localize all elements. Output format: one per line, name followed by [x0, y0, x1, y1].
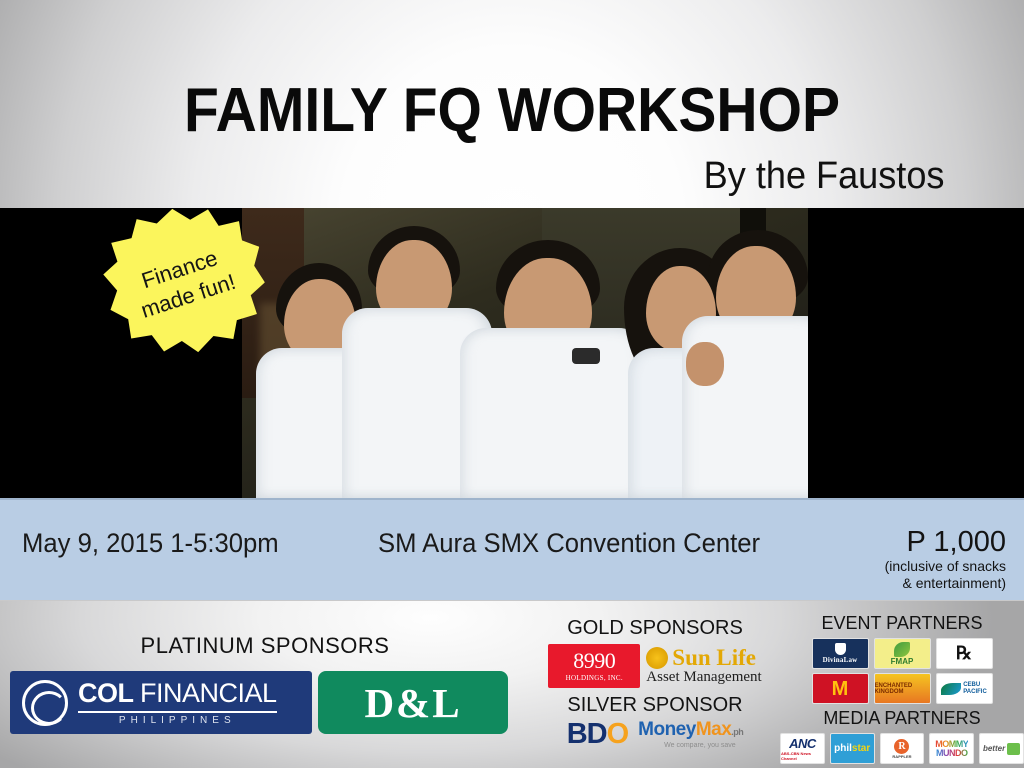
logo-mommy-mundo[interactable]: MOMMY MUNDO [929, 733, 974, 764]
col-circle-icon [22, 680, 68, 726]
event-poster: FAMILY FQ WORKSHOP By the Faustos [0, 0, 1024, 768]
crest-icon [835, 643, 846, 655]
rappler-label: RAPPLER [892, 754, 911, 759]
col-bold-word: COL [78, 678, 133, 708]
logo-better-living[interactable]: better [979, 733, 1024, 764]
mm-ph: .ph [731, 727, 743, 737]
fmap-label: FMAP [891, 657, 914, 666]
moneymax-wordmark: MoneyMax.ph [638, 720, 743, 742]
logo-8990-main: 8990 [573, 650, 615, 672]
philstar-b: star [852, 743, 870, 754]
cebu-pacific-label: CEBU PACIFIC [963, 682, 987, 696]
logo-8990-holdings[interactable]: 8990 HOLDINGS, INC. [548, 644, 640, 688]
price-note-line-2: & entertainment) [766, 575, 1006, 592]
sun-icon [646, 647, 668, 669]
price-note-line-1: (inclusive of snacks [766, 558, 1006, 575]
event-info-bar: May 9, 2015 1-5:30pm SM Aura SMX Convent… [0, 498, 1024, 600]
silver-heading: SILVER SPONSOR [530, 694, 780, 717]
sun-life-name: Sun Life [672, 646, 756, 669]
platinum-sponsors-column: PLATINUM SPONSORS COL FINANCIAL PHILIPPI… [0, 603, 530, 768]
col-name-line: COL FINANCIAL [78, 680, 277, 707]
col-financial-logo[interactable]: COL FINANCIAL PHILIPPINES [10, 671, 312, 734]
logo-calligraphy-partner[interactable]: ℞ [936, 638, 993, 669]
philstar-a: phil [834, 743, 852, 754]
media-partners-heading: MEDIA PARTNERS [780, 708, 1024, 729]
col-divider [78, 711, 277, 713]
logo-rappler[interactable]: R RAPPLER [880, 733, 925, 764]
gold-heading: GOLD SPONSORS [530, 617, 780, 640]
rappler-mark-icon: R [894, 739, 909, 754]
page-title: FAMILY FQ WORKSHOP [41, 80, 983, 142]
logo-sun-life[interactable]: Sun Life Asset Management [646, 646, 761, 686]
better-label: better [983, 744, 1005, 753]
moneymax-tagline: We compare, you save [664, 742, 735, 749]
event-price: P 1,000 (inclusive of snacks & entertain… [766, 526, 1006, 592]
logo-moneymax[interactable]: MoneyMax.ph We compare, you save [638, 720, 743, 749]
col-tagline: PHILIPPINES [78, 716, 277, 726]
logo-fmap[interactable]: FMAP [874, 638, 931, 669]
event-date: May 9, 2015 1-5:30pm [22, 528, 279, 559]
leaf-icon [894, 642, 910, 657]
dl-logo[interactable]: D&L [318, 671, 508, 734]
logo-cebu-pacific[interactable]: CEBU PACIFIC [936, 673, 993, 704]
sun-life-top: Sun Life [646, 646, 756, 669]
logo-anc[interactable]: ANC ABS-CBN News Channel [780, 733, 825, 764]
cebu-line-1: CEBU [963, 682, 987, 689]
event-partners-row-2: M ENCHANTED KINGDOM CEBU PACIFIC [780, 673, 1024, 704]
gold-logo-row: 8990 HOLDINGS, INC. Sun Life Asset Manag… [530, 644, 780, 688]
event-venue: SM Aura SMX Convention Center [378, 528, 760, 559]
bdo-bd: BD [567, 718, 607, 750]
person-son-right [682, 230, 808, 498]
hand [686, 342, 724, 386]
better-mark-icon [1007, 743, 1020, 755]
golden-arches-icon: M [832, 680, 849, 698]
calligraphy-icon: ℞ [956, 643, 972, 664]
title-zone: FAMILY FQ WORKSHOP By the Faustos [0, 0, 1024, 208]
enchanted-kingdom-label: ENCHANTED KINGDOM [875, 683, 930, 695]
col-wordmark: COL FINANCIAL PHILIPPINES [78, 680, 277, 726]
anc-sub: ABS-CBN News Channel [781, 751, 824, 761]
logo-mcdonalds[interactable]: M [812, 673, 869, 704]
price-amount: P 1,000 [766, 526, 1006, 558]
finance-made-fun-badge: Finance made fun! [93, 196, 274, 369]
anc-wordmark: ANC [789, 736, 816, 751]
logo-8990-sub: HOLDINGS, INC. [566, 674, 623, 682]
wristwatch [572, 348, 600, 364]
logo-bdo[interactable]: BDO [567, 720, 628, 749]
divina-law-label: DivinaLaw [823, 656, 858, 664]
media-partners-row: ANC ABS-CBN News Channel philstar R RAPP… [780, 733, 1024, 764]
silver-logo-row: BDO MoneyMax.ph We compare, you save [530, 720, 780, 749]
sun-life-sub: Asset Management [646, 669, 761, 686]
platinum-heading: PLATINUM SPONSORS [0, 633, 530, 659]
platinum-logo-row: COL FINANCIAL PHILIPPINES D&L [10, 671, 508, 734]
logo-philstar[interactable]: philstar [830, 733, 875, 764]
bdo-o: O [607, 718, 629, 750]
family-photo [242, 208, 808, 498]
mm-money: Money [638, 719, 696, 740]
logo-enchanted-kingdom[interactable]: ENCHANTED KINGDOM [874, 673, 931, 704]
gold-silver-sponsors-column: GOLD SPONSORS 8990 HOLDINGS, INC. Sun Li… [530, 603, 780, 768]
event-partners-heading: EVENT PARTNERS [780, 613, 1024, 634]
logo-divina-law[interactable]: DivinaLaw [812, 638, 869, 669]
mommy-line-2: MUNDO [936, 749, 968, 758]
partners-column: EVENT PARTNERS DivinaLaw FMAP ℞ M [780, 603, 1024, 768]
event-partners-row-1: DivinaLaw FMAP ℞ [780, 638, 1024, 669]
wing-icon [941, 683, 961, 695]
sponsor-band: PLATINUM SPONSORS COL FINANCIAL PHILIPPI… [0, 600, 1024, 768]
mm-max: Max [696, 719, 731, 740]
cebu-line-2: PACIFIC [963, 689, 987, 696]
col-rest-word: FINANCIAL [140, 678, 277, 708]
page-subtitle: By the Faustos [703, 157, 944, 195]
